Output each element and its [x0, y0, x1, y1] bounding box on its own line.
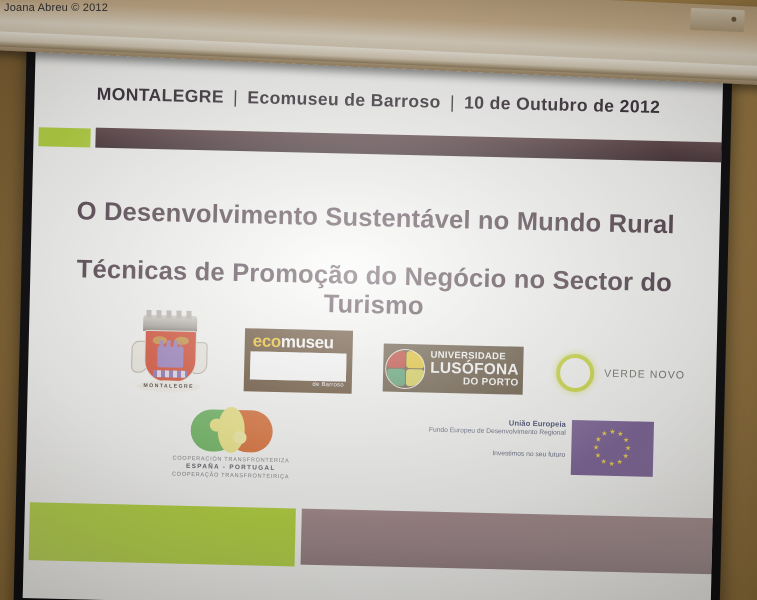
ue-line-3: Investimos no seu futuro [411, 448, 565, 459]
lusofona-line-3: DO PORTO [430, 376, 519, 388]
eu-star-icon: ★ [616, 459, 622, 466]
uniao-europeia-logo: União Europeia Fundo Europeu de Desenvol… [411, 416, 662, 484]
eu-star-icon: ★ [622, 453, 628, 460]
universidade-lusofona-logo: UNIVERSIDADE LUSÓFONA DO PORTO [383, 343, 524, 394]
slide-top-decorative-band [38, 125, 723, 163]
european-union-flag-icon: ★★★★★★★★★★★★ [571, 420, 654, 477]
top-band-brown-bar [95, 128, 723, 163]
slide-header: MONTALEGRE | Ecomuseu de Barroso | 10 de… [34, 82, 722, 119]
slide-title-line-1: O Desenvolvimento Sustentável no Mundo R… [31, 196, 719, 241]
ecomuseu-word-museu: museu [281, 332, 334, 352]
eu-star-icon: ★ [608, 461, 614, 468]
presentation-slide: MONTALEGRE | Ecomuseu de Barroso | 10 de… [23, 38, 724, 600]
top-band-green-block [38, 127, 90, 147]
ecomuseu-subtitle: de Barroso [248, 379, 348, 388]
castle-icon [157, 346, 183, 368]
projection-screen: MONTALEGRE | Ecomuseu de Barroso | 10 de… [13, 33, 733, 600]
lusofona-line-2: LUSÓFONA [430, 360, 519, 378]
verde-novo-label: VERDE NOVO [604, 368, 685, 382]
screen-surface: MONTALEGRE | Ecomuseu de Barroso | 10 de… [23, 38, 724, 600]
verde-novo-ring-icon [556, 354, 595, 393]
photo-watermark: Joana Abreu © 2012 [4, 2, 108, 14]
ecomuseu-de-barroso-logo: ecomuseu de Barroso [244, 328, 353, 394]
roller-mount-bracket [690, 8, 745, 32]
header-separator-2: | [446, 92, 459, 112]
coat-of-arms-shield [144, 330, 197, 383]
header-venue: Ecomuseu de Barroso [247, 87, 441, 112]
coat-of-arms-montalegre-logo: MONTALEGRE [133, 315, 207, 395]
eu-star-icon: ★ [601, 431, 607, 438]
cooperacion-transfronteriza-logo: COOPERACIÓN TRANSFRONTERIZA ESPAÑA - POR… [165, 405, 297, 484]
emblem-ring [385, 349, 426, 390]
eu-star-icon: ★ [609, 429, 615, 436]
logo-row-secondary: COOPERACIÓN TRANSFRONTERIZA ESPAÑA - POR… [25, 402, 715, 498]
lusofona-wordmark: UNIVERSIDADE LUSÓFONA DO PORTO [425, 351, 519, 389]
ecomuseu-wordmark: ecomuseu [249, 332, 349, 352]
header-separator-1: | [229, 87, 242, 107]
uniao-europeia-text: União Europeia Fundo Europeu de Desenvol… [411, 416, 572, 459]
eu-star-icon: ★ [600, 458, 606, 465]
bottom-band-mauve-bar [301, 509, 720, 575]
header-date: 10 de Outubro de 2012 [464, 92, 661, 117]
logo-row-primary: MONTALEGRE ecomuseu de Barroso [28, 310, 718, 406]
header-location: MONTALEGRE [97, 84, 225, 107]
coat-of-arms-banner-text: MONTALEGRE [137, 380, 201, 394]
eu-star-icon: ★ [625, 445, 631, 452]
eu-star-icon: ★ [595, 452, 601, 459]
lusofona-emblem-icon [385, 348, 426, 389]
bottom-band-green-block [29, 502, 296, 566]
eu-star-icon: ★ [623, 437, 629, 444]
ecomuseu-word-eco: eco [253, 331, 282, 351]
cooperacion-mark-icon [190, 406, 273, 454]
slide-bottom-decorative-band [29, 502, 720, 576]
verde-novo-logo: VERDE NOVO [556, 353, 687, 396]
ecomuseu-white-panel [250, 351, 347, 381]
shield-wave-pattern [153, 370, 187, 378]
eu-star-icon: ★ [593, 444, 599, 451]
projector-photo-scene: MONTALEGRE | Ecomuseu de Barroso | 10 de… [0, 0, 757, 600]
